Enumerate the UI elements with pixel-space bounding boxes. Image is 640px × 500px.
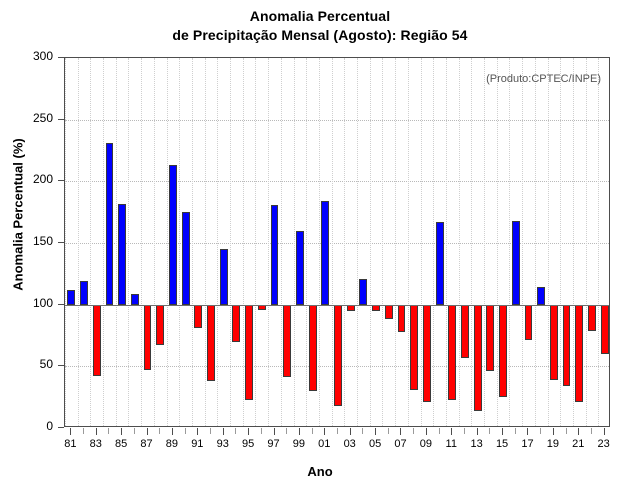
- x-tick-mark: [566, 428, 567, 434]
- baseline-100: [65, 305, 609, 306]
- bar-2015: [499, 305, 507, 398]
- gridline-vertical: [78, 58, 79, 426]
- x-tick-mark: [248, 428, 249, 435]
- gridline-vertical: [408, 58, 409, 426]
- gridline-vertical: [268, 58, 269, 426]
- plot-area: (Produto:CPTEC/INPE): [64, 57, 610, 427]
- x-tick-mark: [147, 428, 148, 435]
- bar-1985: [118, 204, 126, 305]
- gridline-vertical: [560, 58, 561, 426]
- y-tick-mark: [58, 427, 64, 428]
- x-tick-mark: [337, 428, 338, 434]
- gridline-vertical: [471, 58, 472, 426]
- gridline-vertical: [598, 58, 599, 426]
- x-tick-mark: [210, 428, 211, 434]
- y-tick-mark: [58, 304, 64, 305]
- gridline-horizontal: [65, 243, 609, 244]
- gridline-vertical: [154, 58, 155, 426]
- x-tick-mark: [312, 428, 313, 434]
- x-tick-mark: [400, 428, 401, 435]
- bar-2017: [525, 305, 533, 341]
- gridline-vertical: [522, 58, 523, 426]
- gridline-vertical: [344, 58, 345, 426]
- x-tick-mark: [350, 428, 351, 435]
- x-tick-mark: [108, 428, 109, 434]
- bar-1988: [156, 305, 164, 346]
- chart-title-line2: de Precipitação Mensal (Agosto): Região …: [0, 26, 640, 45]
- gridline-vertical: [281, 58, 282, 426]
- x-tick-mark: [185, 428, 186, 434]
- gridline-vertical: [192, 58, 193, 426]
- chart-container: Anomalia Percentual de Precipitação Mens…: [0, 0, 640, 500]
- x-tick-mark: [286, 428, 287, 434]
- x-tick-label: 23: [589, 438, 619, 450]
- gridline-vertical: [446, 58, 447, 426]
- bar-1989: [169, 165, 177, 304]
- bar-2021: [575, 305, 583, 402]
- gridline-vertical: [319, 58, 320, 426]
- bar-2002: [334, 305, 342, 406]
- x-tick-mark: [134, 428, 135, 434]
- bar-1986: [131, 294, 139, 305]
- gridline-vertical: [509, 58, 510, 426]
- gridline-vertical: [484, 58, 485, 426]
- x-tick-mark: [451, 428, 452, 435]
- bar-2009: [423, 305, 431, 402]
- bar-2022: [588, 305, 596, 331]
- bar-2019: [550, 305, 558, 380]
- y-tick-label: 150: [0, 234, 53, 248]
- bar-1995: [245, 305, 253, 400]
- x-tick-mark: [197, 428, 198, 435]
- y-tick-label: 100: [0, 296, 53, 310]
- gridline-vertical: [103, 58, 104, 426]
- bar-1998: [283, 305, 291, 378]
- bar-2001: [321, 201, 329, 305]
- bar-1993: [220, 249, 228, 305]
- gridline-horizontal: [65, 181, 609, 182]
- gridline-vertical: [65, 58, 66, 426]
- y-tick-label: 300: [0, 49, 53, 63]
- gridline-vertical: [90, 58, 91, 426]
- x-tick-mark: [553, 428, 554, 435]
- x-tick-mark: [96, 428, 97, 435]
- bar-1994: [232, 305, 240, 342]
- x-tick-mark: [502, 428, 503, 435]
- bar-1984: [106, 143, 114, 305]
- gridline-vertical: [535, 58, 536, 426]
- gridline-vertical: [128, 58, 129, 426]
- gridline-vertical: [255, 58, 256, 426]
- bar-1982: [80, 281, 88, 304]
- bar-1987: [144, 305, 152, 370]
- gridline-vertical: [179, 58, 180, 426]
- gridline-vertical: [357, 58, 358, 426]
- bar-2014: [486, 305, 494, 372]
- gridline-vertical: [332, 58, 333, 426]
- x-tick-mark: [439, 428, 440, 434]
- bar-2023: [601, 305, 609, 354]
- gridline-vertical: [548, 58, 549, 426]
- y-tick-mark: [58, 242, 64, 243]
- x-tick-mark: [489, 428, 490, 434]
- x-tick-mark: [362, 428, 363, 434]
- y-tick-label: 0: [0, 419, 53, 433]
- gridline-vertical: [586, 58, 587, 426]
- x-tick-mark: [261, 428, 262, 434]
- bar-1997: [271, 205, 279, 305]
- bar-2011: [448, 305, 456, 400]
- x-tick-mark: [477, 428, 478, 435]
- x-axis-label: Ano: [0, 464, 640, 479]
- gridline-vertical: [421, 58, 422, 426]
- x-tick-mark: [324, 428, 325, 435]
- x-tick-mark: [578, 428, 579, 435]
- y-tick-mark: [58, 57, 64, 58]
- y-tick-label: 200: [0, 172, 53, 186]
- x-tick-mark: [121, 428, 122, 435]
- x-tick-mark: [172, 428, 173, 435]
- y-tick-label: 250: [0, 111, 53, 125]
- gridline-vertical: [243, 58, 244, 426]
- gridline-vertical: [497, 58, 498, 426]
- bar-1983: [93, 305, 101, 377]
- gridline-vertical: [306, 58, 307, 426]
- x-tick-mark: [515, 428, 516, 434]
- x-tick-mark: [464, 428, 465, 434]
- gridline-vertical: [230, 58, 231, 426]
- x-tick-mark: [591, 428, 592, 434]
- x-tick-mark: [274, 428, 275, 435]
- y-tick-label: 50: [0, 357, 53, 371]
- bar-1981: [67, 290, 75, 305]
- bar-2018: [537, 287, 545, 304]
- x-tick-mark: [426, 428, 427, 435]
- gridline-vertical: [573, 58, 574, 426]
- y-tick-mark: [58, 365, 64, 366]
- gridline-vertical: [382, 58, 383, 426]
- y-tick-mark: [58, 180, 64, 181]
- gridline-vertical: [217, 58, 218, 426]
- x-tick-mark: [604, 428, 605, 435]
- x-tick-mark: [375, 428, 376, 435]
- bar-2013: [474, 305, 482, 411]
- x-tick-mark: [223, 428, 224, 435]
- x-tick-mark: [83, 428, 84, 434]
- chart-title: Anomalia Percentual de Precipitação Mens…: [0, 7, 640, 45]
- x-tick-mark: [540, 428, 541, 434]
- bar-1999: [296, 231, 304, 305]
- bar-1990: [182, 212, 190, 305]
- bar-2000: [309, 305, 317, 391]
- bar-2020: [563, 305, 571, 386]
- gridline-vertical: [294, 58, 295, 426]
- gridline-vertical: [141, 58, 142, 426]
- bar-2012: [461, 305, 469, 358]
- y-tick-mark: [58, 119, 64, 120]
- gridline-vertical: [433, 58, 434, 426]
- bar-2016: [512, 221, 520, 305]
- gridline-vertical: [395, 58, 396, 426]
- gridline-vertical: [459, 58, 460, 426]
- y-axis-label: Anomalia Percentual (%): [11, 25, 26, 405]
- x-tick-mark: [388, 428, 389, 434]
- plot-inner: [65, 58, 609, 426]
- bar-2010: [436, 222, 444, 305]
- x-tick-mark: [70, 428, 71, 435]
- gridline-vertical: [205, 58, 206, 426]
- x-tick-mark: [235, 428, 236, 434]
- bar-2004: [359, 279, 367, 305]
- gridline-vertical: [370, 58, 371, 426]
- source-annotation: (Produto:CPTEC/INPE): [486, 73, 601, 85]
- x-tick-mark: [299, 428, 300, 435]
- x-tick-mark: [527, 428, 528, 435]
- bar-2006: [385, 305, 393, 320]
- x-tick-mark: [413, 428, 414, 434]
- gridline-horizontal: [65, 120, 609, 121]
- x-tick-mark: [159, 428, 160, 434]
- chart-title-line1: Anomalia Percentual: [0, 7, 640, 26]
- gridline-vertical: [167, 58, 168, 426]
- bar-2007: [398, 305, 406, 332]
- gridline-vertical: [116, 58, 117, 426]
- bar-1992: [207, 305, 215, 381]
- bar-2008: [410, 305, 418, 390]
- bar-1991: [194, 305, 202, 328]
